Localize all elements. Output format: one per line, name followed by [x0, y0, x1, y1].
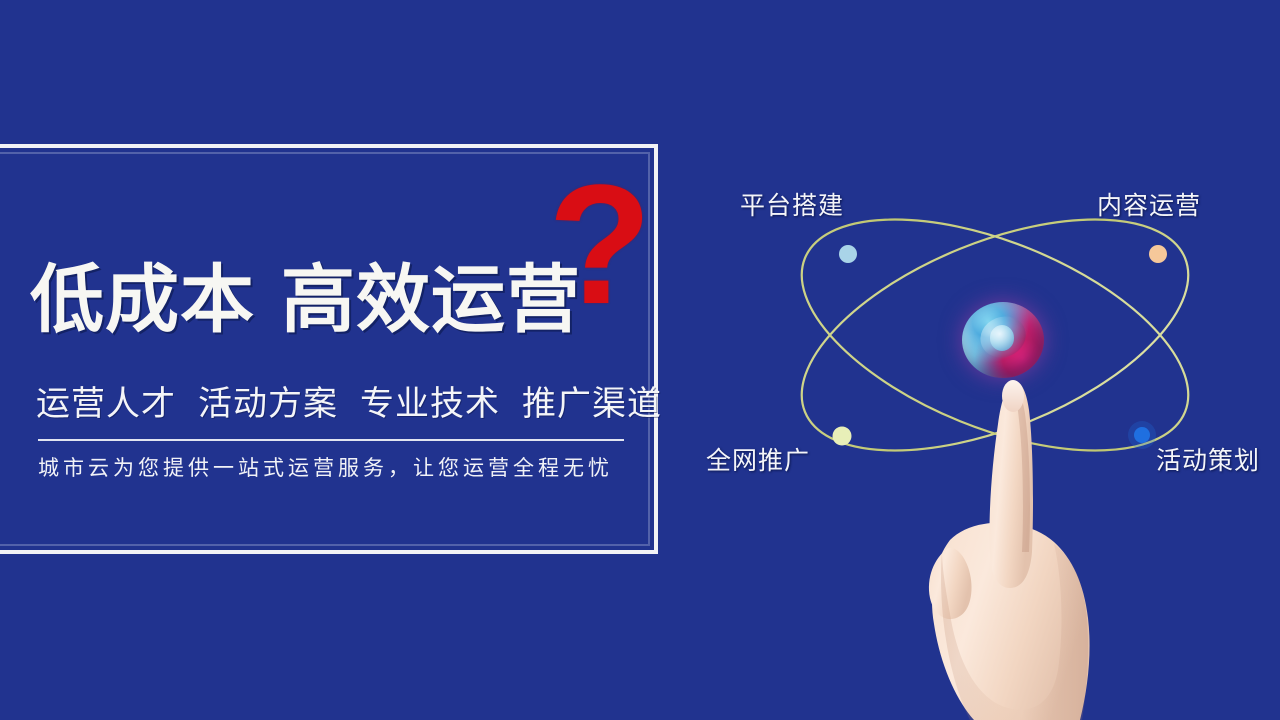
orbit-node-platform[interactable]	[839, 245, 857, 263]
orbit-label-platform: 平台搭建	[740, 186, 844, 222]
orbit-node-planning-glow	[1128, 421, 1156, 449]
headline-part-1: 低成本	[30, 258, 255, 341]
keyword-item-3: 推广渠道	[522, 386, 662, 423]
orbit-label-content: 内容运营	[1097, 186, 1201, 222]
keyword-item-2: 专业技术	[360, 386, 500, 423]
orbit-node-content[interactable]	[1149, 245, 1167, 263]
headline-part-2: 高效运营	[281, 258, 581, 341]
pointing-hand-icon	[912, 352, 1124, 720]
page-title: 低成本高效运营	[30, 262, 581, 337]
hand-fingernail	[1002, 380, 1024, 412]
sphere-core-highlight	[990, 325, 1015, 351]
tagline-text: 城市云为您提供一站式运营服务，让您运营全程无忧	[38, 455, 613, 482]
keyword-item-0: 运营人才	[36, 386, 176, 423]
keyword-item-1: 活动方案	[198, 386, 338, 423]
keyword-list: 运营人才活动方案专业技术推广渠道	[36, 386, 662, 423]
banner-slide: ? 低成本高效运营 运营人才活动方案专业技术推广渠道 城市云为您提供一站式运营服…	[0, 0, 1280, 720]
orbit-node-promotion[interactable]	[833, 427, 852, 446]
orbit-label-planning: 活动策划	[1156, 441, 1260, 477]
hand-svg	[912, 352, 1124, 720]
orbit-label-promotion: 全网推广	[706, 441, 810, 477]
divider-rule	[38, 439, 624, 441]
